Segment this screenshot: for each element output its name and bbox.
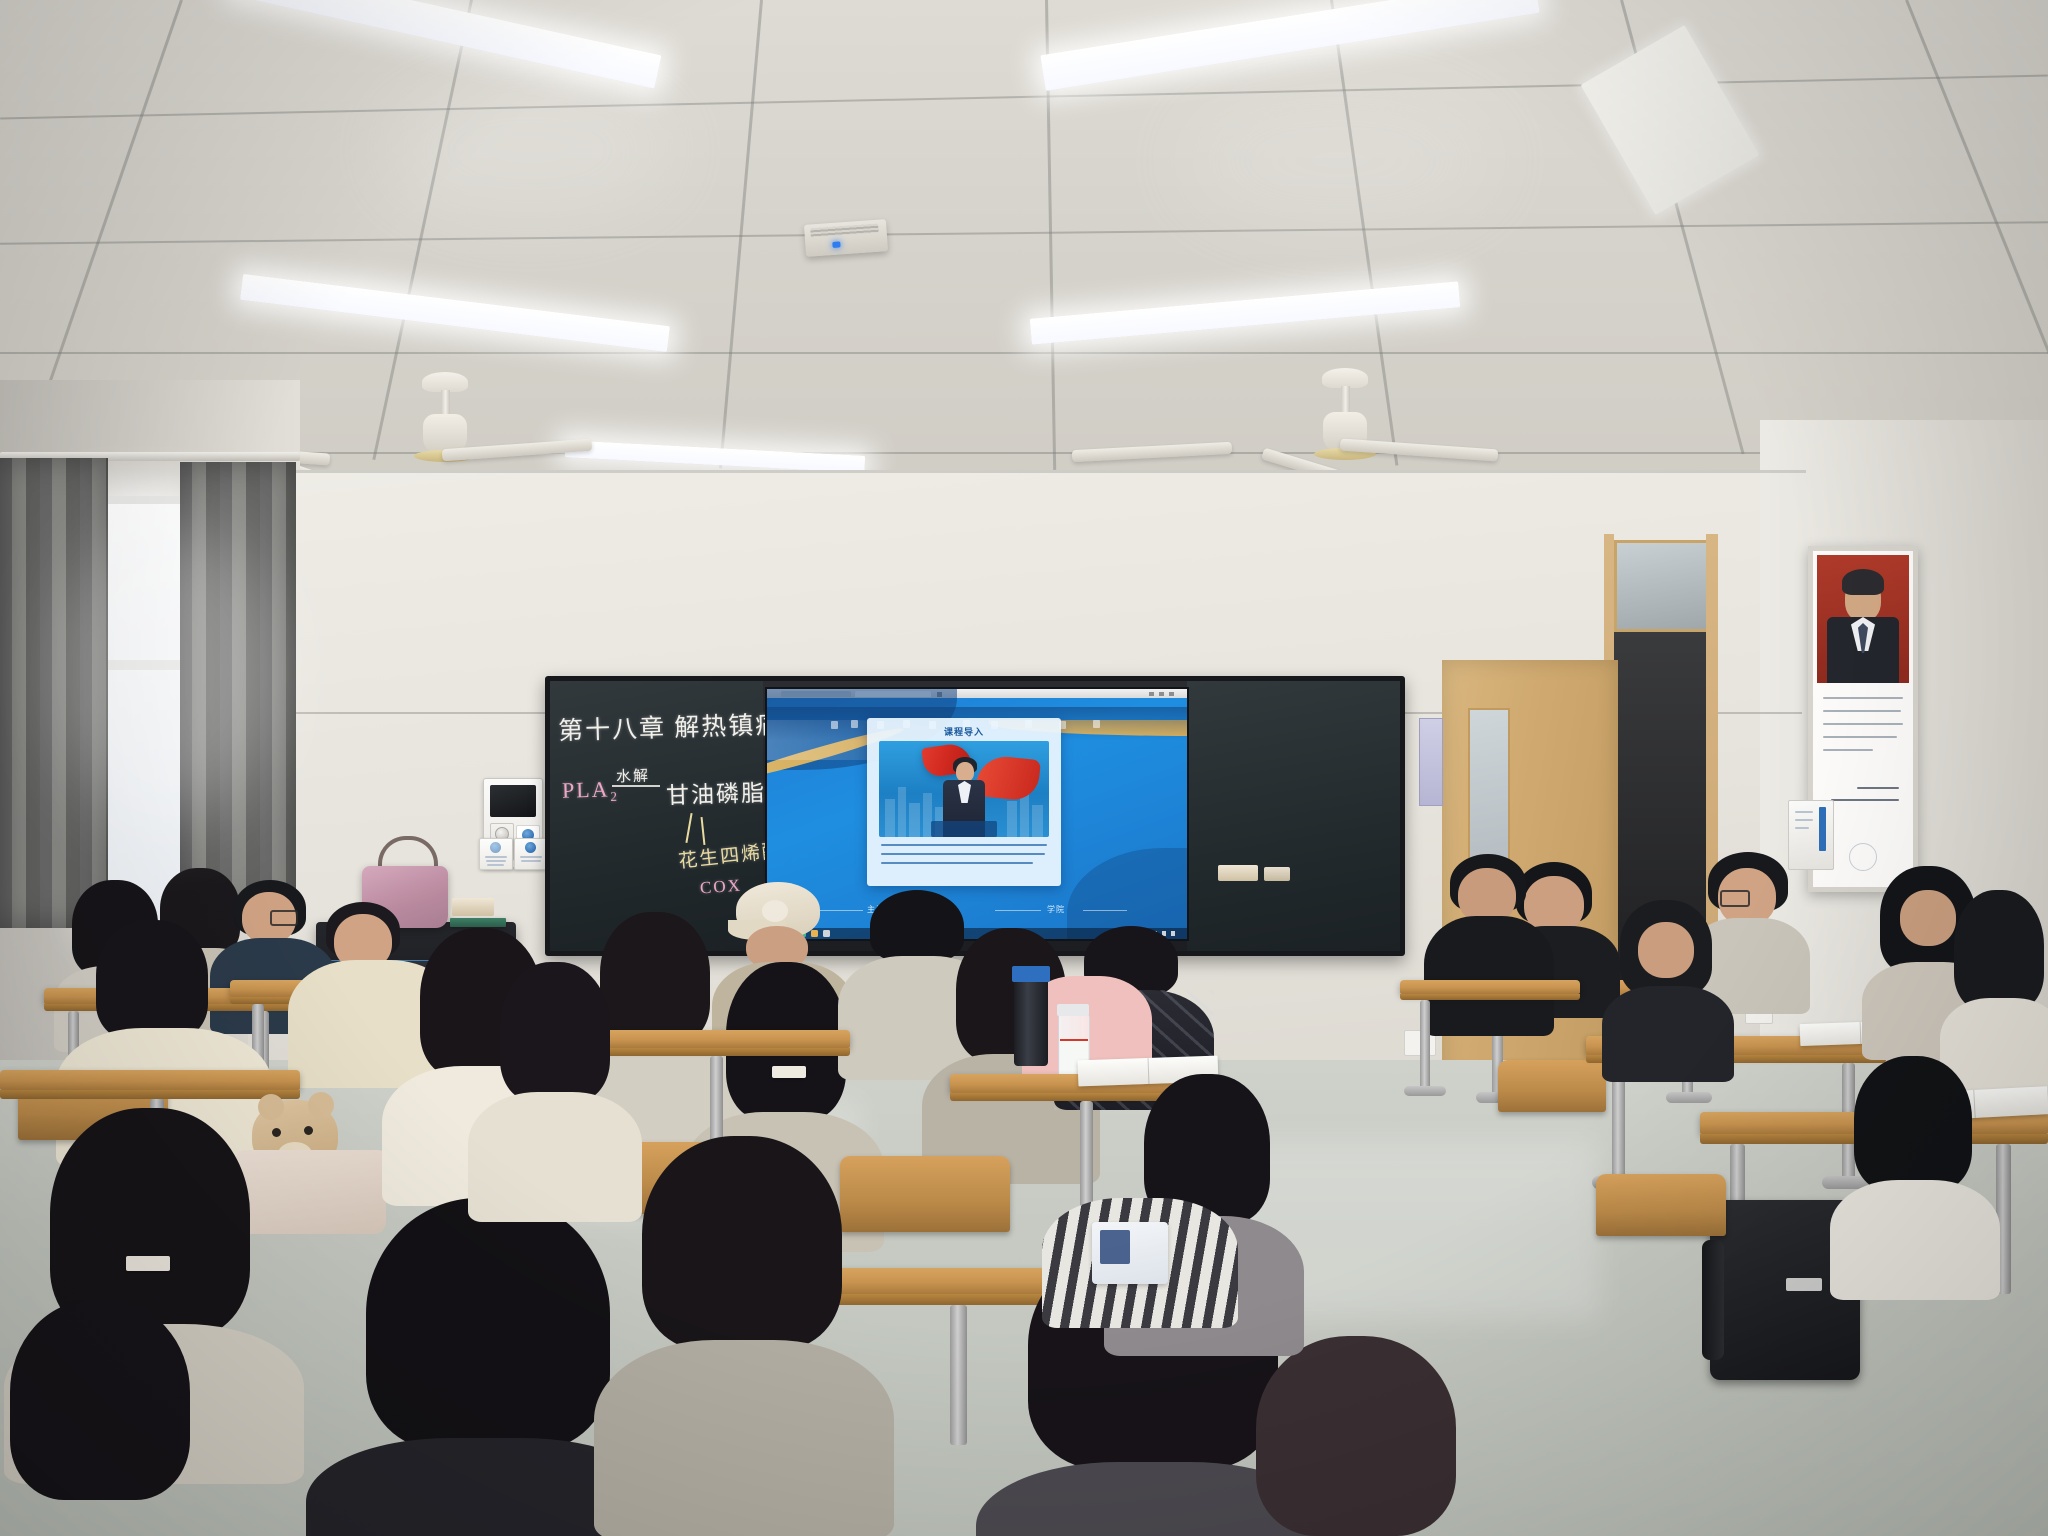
- chair-right-r3[interactable]: [1596, 1174, 1726, 1236]
- book-on-podium[interactable]: [450, 918, 506, 927]
- hair-clip: [126, 1256, 170, 1271]
- bear-ear: [308, 1092, 334, 1118]
- eyeglasses: [270, 910, 298, 926]
- chalk-line-phospholipid: 甘油磷脂: [666, 774, 767, 811]
- ceiling-fan-right: [1200, 368, 1490, 448]
- pencil-case[interactable]: [1092, 1222, 1168, 1284]
- poster-quote: [1823, 697, 1903, 763]
- desk-right-r0[interactable]: [1400, 980, 1580, 1100]
- window-glass: [100, 500, 182, 920]
- bottle-cap: [1057, 1004, 1089, 1016]
- classroom-photo: 第十八章 解热镇痛抗炎药 PLA₂ 水解 甘油磷脂 花生四烯酸 COX: [0, 0, 2048, 1536]
- classroom-plaque-left: [479, 838, 513, 870]
- window-frame: [96, 496, 188, 504]
- led-panel-light: [240, 274, 670, 352]
- pencil-case-graphic: [1100, 1230, 1130, 1264]
- thermos[interactable]: [1014, 978, 1048, 1066]
- student: [0, 1300, 220, 1536]
- classroom-plaque-right: [514, 838, 548, 870]
- student: [336, 1198, 636, 1536]
- student: [480, 962, 628, 1182]
- slide-card-title: 课程导入: [867, 725, 1061, 738]
- thermos-lid: [1012, 966, 1050, 982]
- student: [1608, 900, 1730, 1070]
- chalk-eraser[interactable]: [1218, 865, 1258, 881]
- smoke-detector: [804, 219, 888, 257]
- student: [1236, 1336, 1476, 1536]
- control-panel-display[interactable]: [490, 785, 536, 817]
- cap-patch: [762, 900, 788, 922]
- ceiling-fan-left: [300, 372, 590, 452]
- student: [1946, 890, 2048, 1080]
- chalk-line-pla2: PLA₂: [562, 776, 620, 804]
- slide-photo: [879, 741, 1049, 837]
- led-panel-light: [1040, 0, 1539, 91]
- portrait-photo: [1817, 555, 1909, 683]
- led-panel-light: [229, 0, 661, 89]
- slide-card: 课程导入: [867, 718, 1061, 886]
- student: [1840, 1056, 1990, 1276]
- led-panel-light: [565, 440, 865, 473]
- chalk-line-hydrolysis: 水解: [616, 765, 651, 787]
- corridor-notice-board: [1419, 718, 1443, 806]
- student: [618, 1136, 868, 1536]
- curtain-right[interactable]: [180, 462, 296, 912]
- chalkboard-right-panel[interactable]: [1187, 681, 1400, 951]
- backpack-strap: [1702, 1240, 1724, 1360]
- fan-blade: [1072, 442, 1232, 462]
- status-indicator: [832, 241, 840, 248]
- backpack-logo: [1786, 1278, 1822, 1291]
- chalk-eraser[interactable]: [452, 898, 494, 916]
- chalk-arrow: [612, 785, 660, 787]
- led-panel-light: [1030, 281, 1461, 344]
- transom-window: [1614, 540, 1712, 632]
- chalk-box[interactable]: [1264, 867, 1290, 881]
- curtain-left[interactable]: [0, 458, 108, 928]
- slide-footer-right: 学院: [1047, 904, 1065, 915]
- poster-source-note: [1831, 799, 1899, 801]
- led-panel-light: [1581, 25, 1760, 215]
- window-frame: [96, 660, 188, 670]
- slide-body-text: [881, 844, 1049, 876]
- window-controls[interactable]: [1149, 692, 1179, 696]
- bear-eye: [304, 1126, 313, 1135]
- poster-attribution: [1857, 787, 1899, 789]
